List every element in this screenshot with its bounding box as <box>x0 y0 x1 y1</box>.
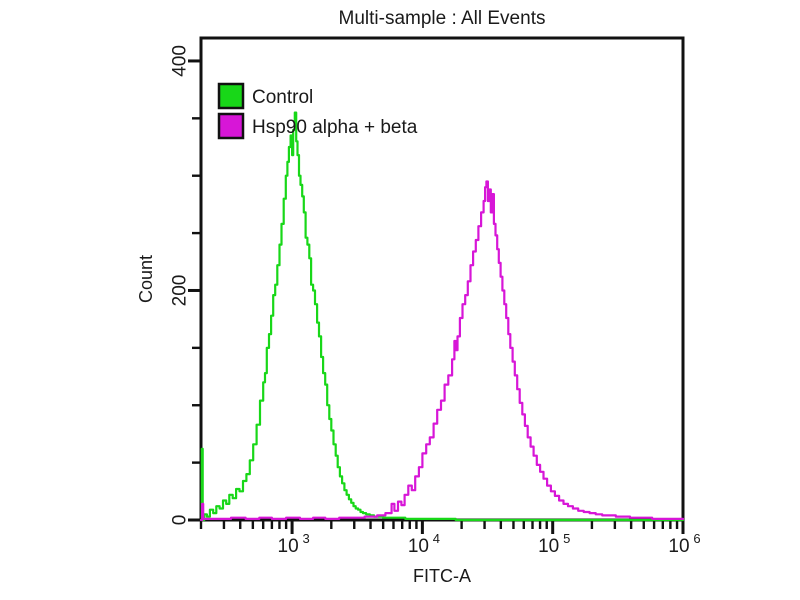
y-axis-title: Count <box>136 255 156 303</box>
legend-label: Hsp90 alpha + beta <box>252 117 418 138</box>
y-tick-label: 400 <box>170 45 191 77</box>
chart-title: Multi-sample : All Events <box>339 8 546 29</box>
legend-swatch <box>219 114 243 138</box>
x-tick-label-mantissa: 10 <box>538 536 559 557</box>
x-tick-label-mantissa: 10 <box>668 536 689 557</box>
legend-swatch <box>219 84 243 108</box>
x-tick-label-exponent: 3 <box>302 531 309 546</box>
x-tick-label-exponent: 5 <box>563 531 570 546</box>
x-tick-label-mantissa: 10 <box>408 536 429 557</box>
chart-svg: Multi-sample : All Events 0200400 103104… <box>0 0 800 600</box>
x-axis-title: FITC-A <box>413 566 471 586</box>
figure-background <box>0 0 800 600</box>
x-tick-label-mantissa: 10 <box>278 536 299 557</box>
legend-label: Control <box>252 87 313 108</box>
y-tick-label: 0 <box>170 515 191 526</box>
y-tick-label: 200 <box>170 275 191 307</box>
x-tick-label-exponent: 4 <box>433 531 440 546</box>
flow-cytometry-histogram-figure: Multi-sample : All Events 0200400 103104… <box>0 0 800 600</box>
x-tick-label-exponent: 6 <box>693 531 700 546</box>
